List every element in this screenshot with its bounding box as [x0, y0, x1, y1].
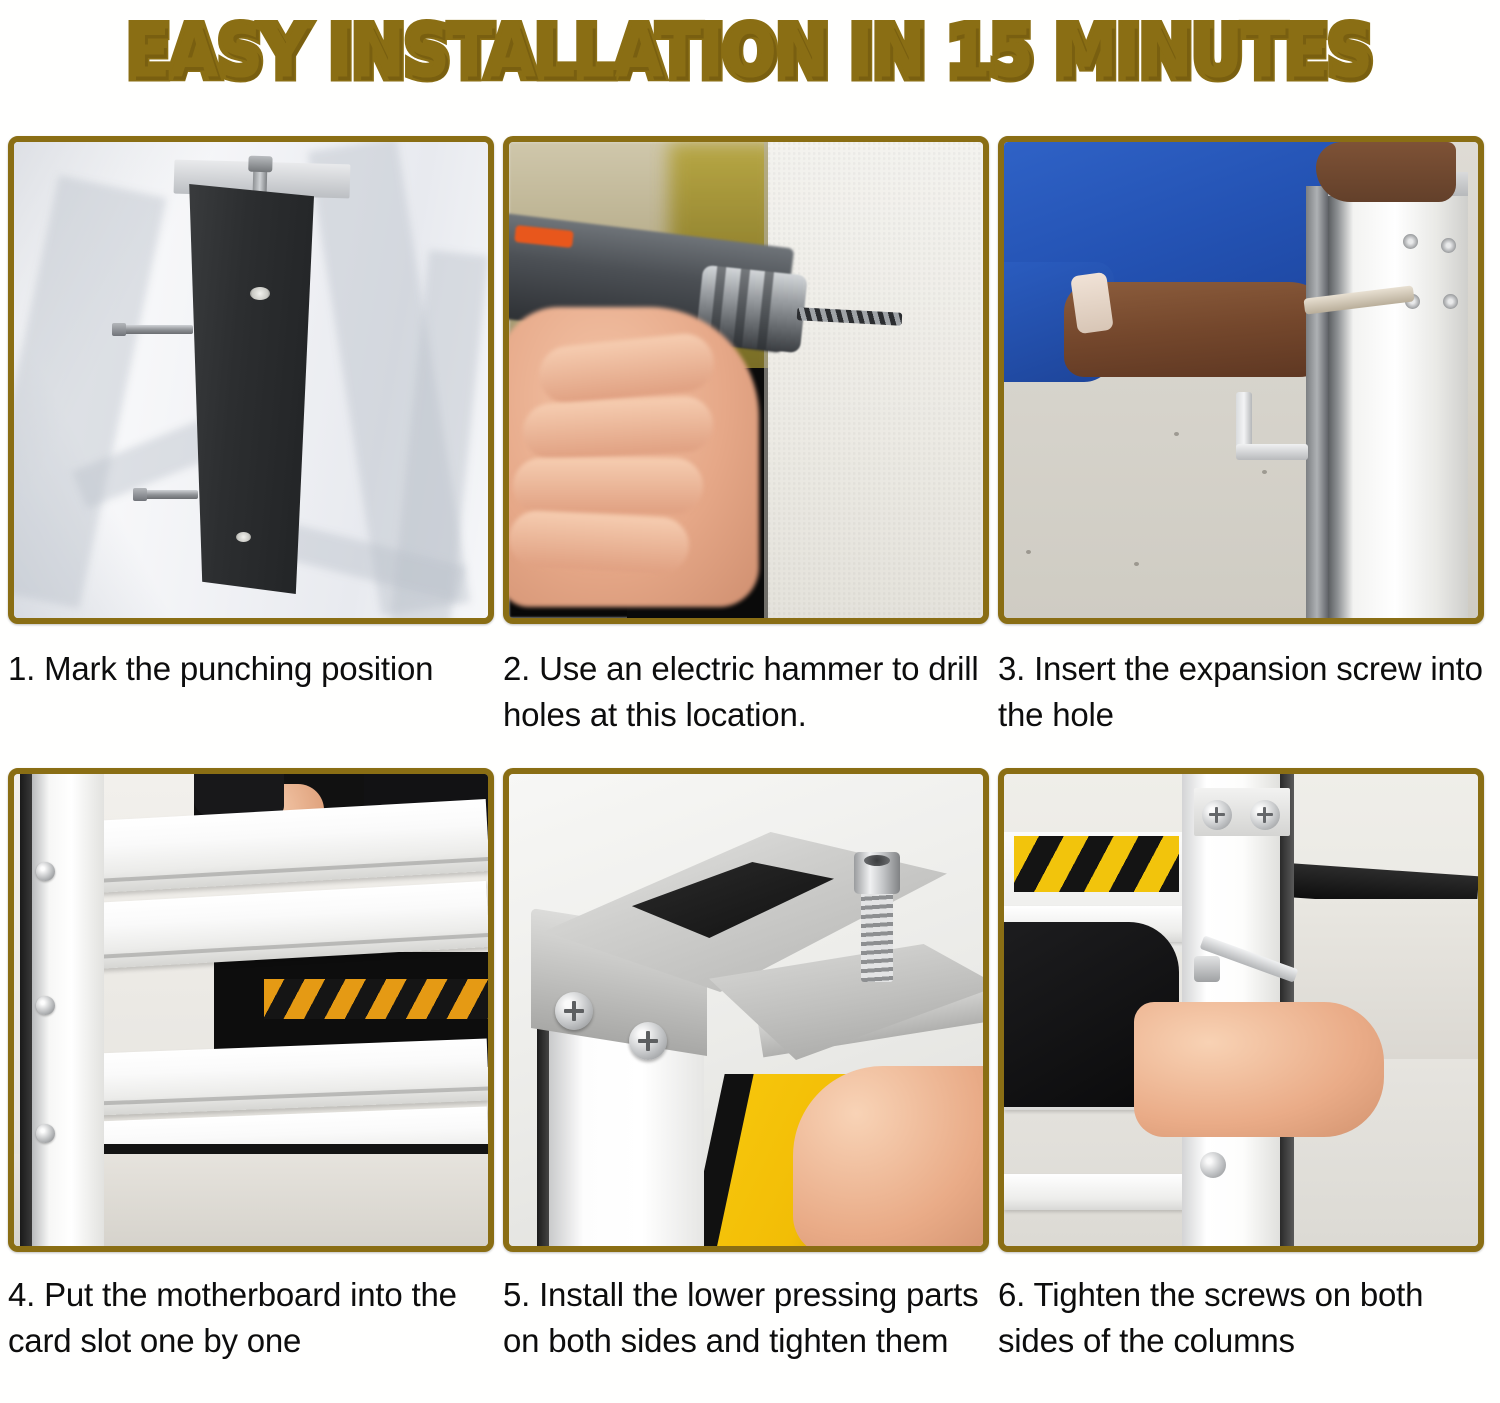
hazard-stripe [1014, 836, 1179, 892]
step-6-caption: 6. Tighten the screws on both sides of t… [998, 1272, 1484, 1364]
page-title: EASY INSTALLATION IN 15 MINUTES [127, 11, 1372, 93]
step-2-caption: 2. Use an electric hammer to drill holes… [503, 646, 989, 738]
step-1-photo [14, 142, 488, 618]
step-card-5: 5. Install the lower pressing parts on b… [503, 768, 997, 1364]
step-4-caption: 4. Put the motherboard into the card slo… [8, 1272, 494, 1364]
step-4-photo-frame [8, 768, 494, 1252]
step-card-1: 1. Mark the punching position [8, 136, 502, 738]
step-card-2: 2. Use an electric hammer to drill holes… [503, 136, 997, 738]
step-3-caption: 3. Insert the expansion screw into the h… [998, 646, 1484, 738]
step-5-caption: 5. Install the lower pressing parts on b… [503, 1272, 989, 1364]
step-card-4: 4. Put the motherboard into the card slo… [8, 768, 502, 1364]
step-2-photo-frame [503, 136, 989, 624]
step-1-photo-frame [8, 136, 494, 624]
installation-guide-page: EASY INSTALLATION IN 15 MINUTES [0, 0, 1500, 1403]
allen-key-icon [1236, 392, 1252, 458]
step-1-caption: 1. Mark the punching position [8, 646, 494, 692]
step-6-photo-frame [998, 768, 1484, 1252]
step-3-photo [1004, 142, 1478, 618]
step-card-3: 3. Insert the expansion screw into the h… [998, 136, 1492, 738]
steps-row-bottom: 4. Put the motherboard into the card slo… [8, 768, 1492, 1364]
step-card-6: 6. Tighten the screws on both sides of t… [998, 768, 1492, 1364]
step-4-photo [14, 774, 488, 1246]
title-banner: EASY INSTALLATION IN 15 MINUTES [0, 0, 1500, 100]
step-5-photo [509, 774, 983, 1246]
hazard-stripe [264, 979, 488, 1019]
step-2-photo [509, 142, 983, 618]
step-3-photo-frame [998, 136, 1484, 624]
expansion-bolt-icon [854, 852, 900, 980]
step-5-photo-frame [503, 768, 989, 1252]
step-6-photo [1004, 774, 1478, 1246]
steps-row-top: 1. Mark the punching position [8, 136, 1492, 738]
